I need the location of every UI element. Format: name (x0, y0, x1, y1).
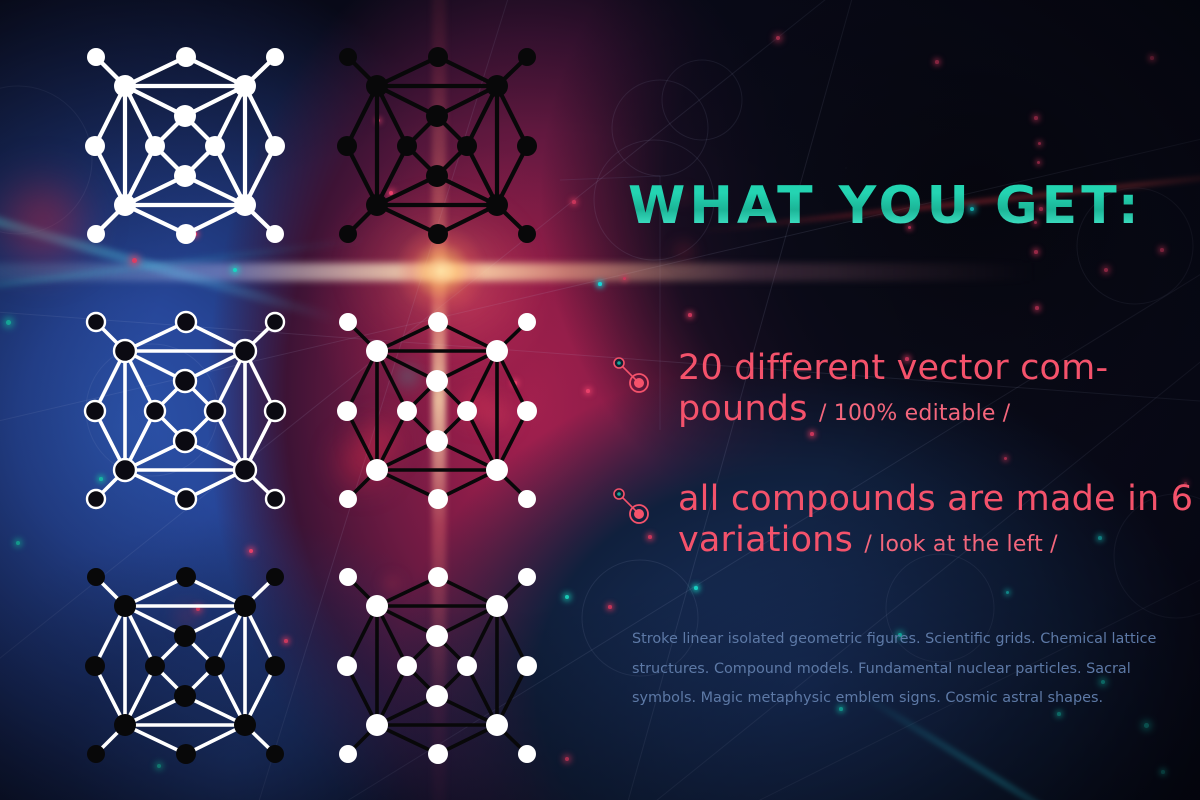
molecule-atom (85, 136, 105, 156)
molecule-atom (397, 401, 417, 421)
molecule-diagram-top-right (330, 42, 540, 257)
molecule-atom (457, 401, 477, 421)
molecule-atom (426, 625, 448, 647)
molecule-atom (174, 165, 196, 187)
molecule-atom (486, 714, 508, 736)
bullet-marker-icon (610, 354, 654, 396)
molecule-atom (176, 489, 196, 509)
molecule-atom (428, 224, 448, 244)
molecule-atom (234, 340, 256, 362)
molecule-atom (145, 401, 165, 421)
molecule-svg (330, 42, 540, 252)
molecule-atom (234, 75, 256, 97)
molecule-atom (234, 714, 256, 736)
molecule-atom (266, 225, 284, 243)
molecule-atom (114, 75, 136, 97)
molecule-atom (176, 744, 196, 764)
molecule-atom (114, 194, 136, 216)
molecule-atom (176, 224, 196, 244)
molecule-atom (339, 48, 357, 66)
molecule-atom (517, 656, 537, 676)
molecule-svg (330, 307, 540, 517)
molecule-atom (518, 745, 536, 763)
molecule-atom (366, 75, 388, 97)
molecule-atom (87, 490, 105, 508)
molecule-atom (205, 656, 225, 676)
molecule-atom (266, 313, 284, 331)
molecule-atom (337, 136, 357, 156)
molecule-atom (457, 136, 477, 156)
molecule-atom (339, 490, 357, 508)
molecule-atom (85, 656, 105, 676)
molecule-atom (426, 105, 448, 127)
molecule-atom (85, 401, 105, 421)
feature-bullet-text: all compounds are made in 6 variations /… (678, 479, 1200, 562)
molecule-atom (174, 625, 196, 647)
molecule-atom (428, 312, 448, 332)
molecule-atom (517, 136, 537, 156)
feature-bullet-text: 20 different vector com-pounds / 100% ed… (678, 348, 1200, 431)
molecule-atom (428, 567, 448, 587)
molecule-atom (486, 595, 508, 617)
molecule-atom (266, 568, 284, 586)
poster-stage: WHAT YOU GET: 20 different vector com-po… (0, 0, 1200, 800)
molecule-atom (518, 48, 536, 66)
molecule-atom (176, 567, 196, 587)
molecule-atom (205, 136, 225, 156)
molecule-atom (145, 136, 165, 156)
molecule-diagram-middle-right (330, 307, 540, 522)
molecule-atom (174, 685, 196, 707)
molecule-atom (87, 48, 105, 66)
molecule-atom (174, 430, 196, 452)
molecule-atom (457, 656, 477, 676)
molecule-diagram-bottom-left (78, 562, 288, 777)
molecule-atom (366, 595, 388, 617)
content-column: WHAT YOU GET: 20 different vector com-po… (610, 0, 1200, 800)
molecule-atom (87, 745, 105, 763)
molecule-atom (337, 656, 357, 676)
molecule-atom (518, 490, 536, 508)
molecule-atom (339, 745, 357, 763)
feature-bullet-note: / 100% editable / (819, 401, 1010, 426)
molecule-atom (114, 459, 136, 481)
bullet-marker-icon (610, 485, 654, 527)
molecule-svg (78, 42, 288, 252)
molecule-atom (265, 401, 285, 421)
molecule-atom (486, 194, 508, 216)
molecule-atom (426, 165, 448, 187)
description-paragraph: Stroke linear isolated geometric figures… (632, 625, 1162, 714)
feature-bullet: all compounds are made in 6 variations /… (610, 479, 1200, 562)
molecule-atom (266, 490, 284, 508)
molecule-atom (426, 430, 448, 452)
molecule-atom (265, 136, 285, 156)
molecule-atom (486, 75, 508, 97)
molecule-atom (114, 595, 136, 617)
molecule-atom (518, 225, 536, 243)
molecule-atom (234, 595, 256, 617)
molecule-atom (339, 568, 357, 586)
molecule-atom (87, 313, 105, 331)
molecule-atom (366, 194, 388, 216)
molecule-atom (426, 685, 448, 707)
molecule-atom (486, 340, 508, 362)
molecule-diagram-bottom-right (330, 562, 540, 777)
molecule-atom (266, 48, 284, 66)
molecule-atom (266, 745, 284, 763)
molecule-atom (337, 401, 357, 421)
molecule-atom (174, 370, 196, 392)
molecule-atom (205, 401, 225, 421)
molecule-atom (234, 459, 256, 481)
molecule-atom (114, 340, 136, 362)
feature-bullet-note: / look at the left / (864, 532, 1057, 557)
molecule-atom (176, 47, 196, 67)
molecule-atom (366, 340, 388, 362)
molecule-svg (330, 562, 540, 772)
molecule-atom (366, 714, 388, 736)
molecule-atom (397, 136, 417, 156)
molecule-atom (426, 370, 448, 392)
molecule-atom (428, 744, 448, 764)
molecule-atom (176, 312, 196, 332)
page-title: WHAT YOU GET: (628, 176, 1143, 236)
molecule-svg (78, 307, 288, 517)
molecule-atom (145, 656, 165, 676)
molecule-atom (87, 568, 105, 586)
molecule-diagram-middle-left (78, 307, 288, 522)
feature-bullet: 20 different vector com-pounds / 100% ed… (610, 348, 1200, 431)
molecule-atom (428, 47, 448, 67)
molecule-atom (366, 459, 388, 481)
molecule-atom (486, 459, 508, 481)
molecule-atom (428, 489, 448, 509)
molecule-atom (339, 313, 357, 331)
feature-bullet-list: 20 different vector com-pounds / 100% ed… (610, 348, 1200, 609)
molecule-atom (518, 568, 536, 586)
molecule-atom (265, 656, 285, 676)
molecule-atom (339, 225, 357, 243)
molecule-atom (517, 401, 537, 421)
molecule-atom (397, 656, 417, 676)
molecule-diagram-top-left (78, 42, 288, 257)
molecule-atom (114, 714, 136, 736)
molecule-atom (174, 105, 196, 127)
molecule-atom (518, 313, 536, 331)
molecule-atom (87, 225, 105, 243)
molecule-svg (78, 562, 288, 772)
molecule-atom (234, 194, 256, 216)
